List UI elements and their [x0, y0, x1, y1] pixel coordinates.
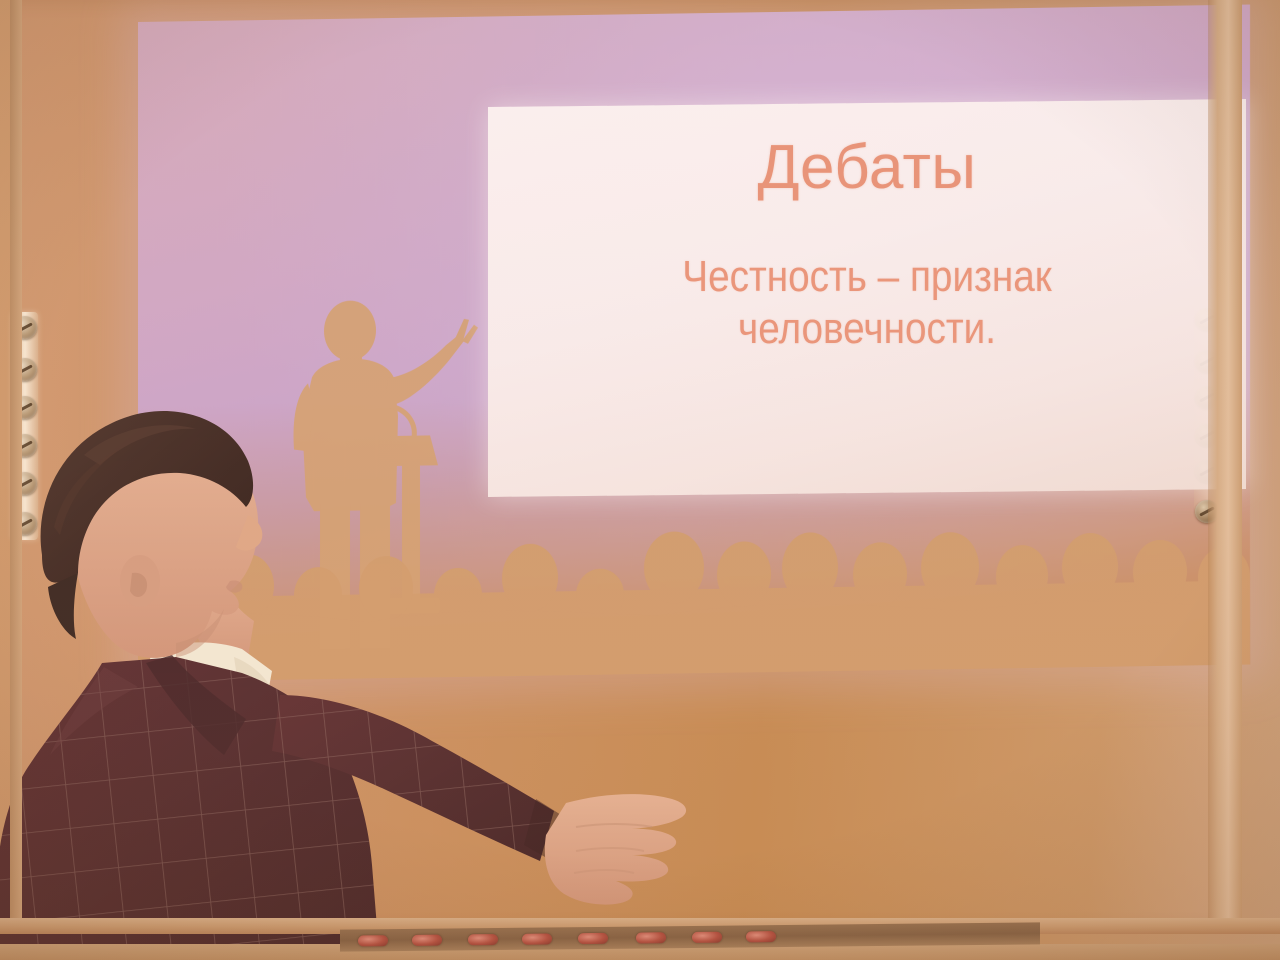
sideburn: [48, 573, 78, 639]
tray-marker[interactable]: [468, 934, 498, 945]
student-foreground: [0, 395, 700, 960]
hand-open-palm: [545, 794, 686, 905]
tray-marker[interactable]: [636, 932, 666, 943]
tray-marker[interactable]: [746, 931, 776, 942]
whiteboard-right-frame: [1208, 0, 1242, 930]
jacket: [0, 635, 440, 960]
tray-marker[interactable]: [692, 932, 722, 943]
slide-title: Дебаты: [758, 137, 977, 199]
tray-marker[interactable]: [358, 935, 388, 946]
whiteboard-left-frame: [10, 0, 22, 930]
tray-marker[interactable]: [412, 935, 442, 946]
photo-scene: Дебаты Честность – признак человечности.: [0, 0, 1280, 960]
tray-marker[interactable]: [522, 933, 552, 944]
slide-subtitle: Честность – признак человечности.: [660, 251, 1074, 355]
tray-marker[interactable]: [578, 933, 608, 944]
